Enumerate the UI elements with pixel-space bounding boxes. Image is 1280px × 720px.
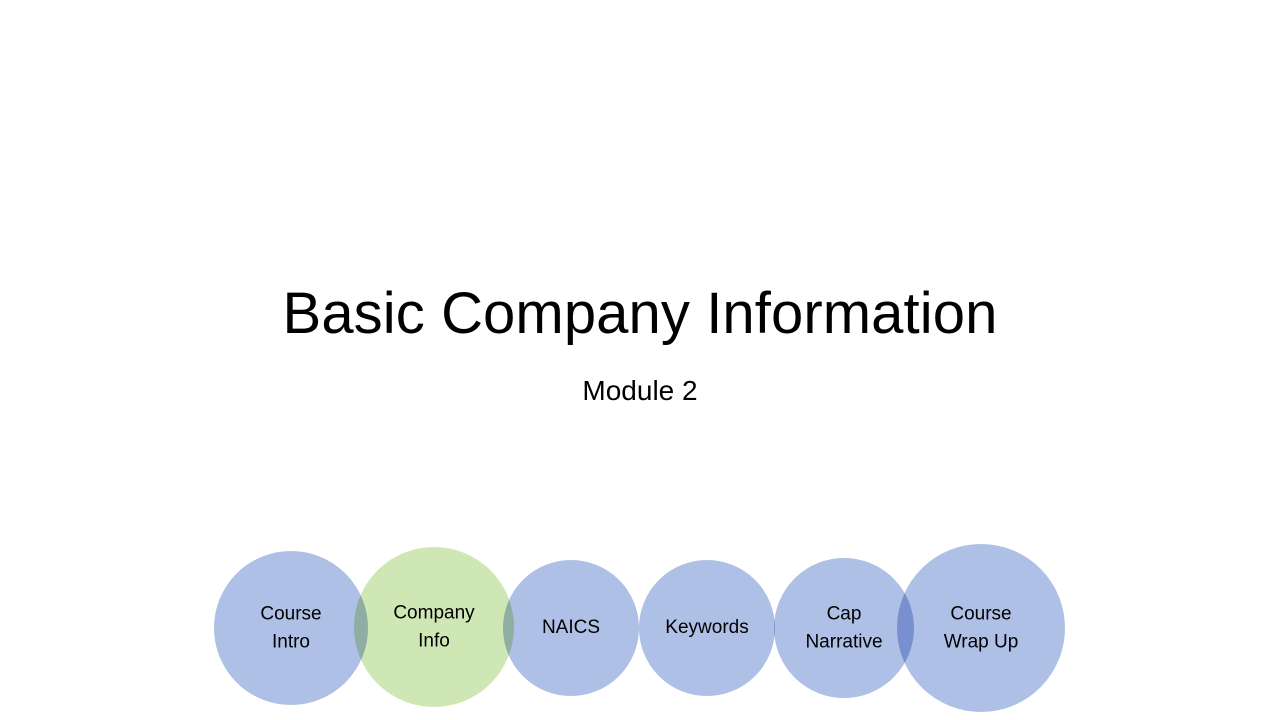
- slide-canvas: Basic Company Information Module 2 Cours…: [0, 0, 1280, 720]
- circle-label-company-info[interactable]: Company Info: [393, 599, 474, 654]
- circle-label-course-intro[interactable]: Course Intro: [260, 600, 321, 655]
- circle-label-cap-narrative[interactable]: Cap Narrative: [805, 600, 882, 655]
- circles-graphic: [0, 0, 1280, 720]
- circle-label-course-wrap-up[interactable]: Course Wrap Up: [944, 600, 1019, 655]
- circle-label-keywords[interactable]: Keywords: [665, 614, 748, 642]
- circle-label-naics[interactable]: NAICS: [542, 614, 600, 642]
- module-progress-diagram: Course IntroCompany InfoNAICSKeywordsCap…: [0, 0, 1280, 720]
